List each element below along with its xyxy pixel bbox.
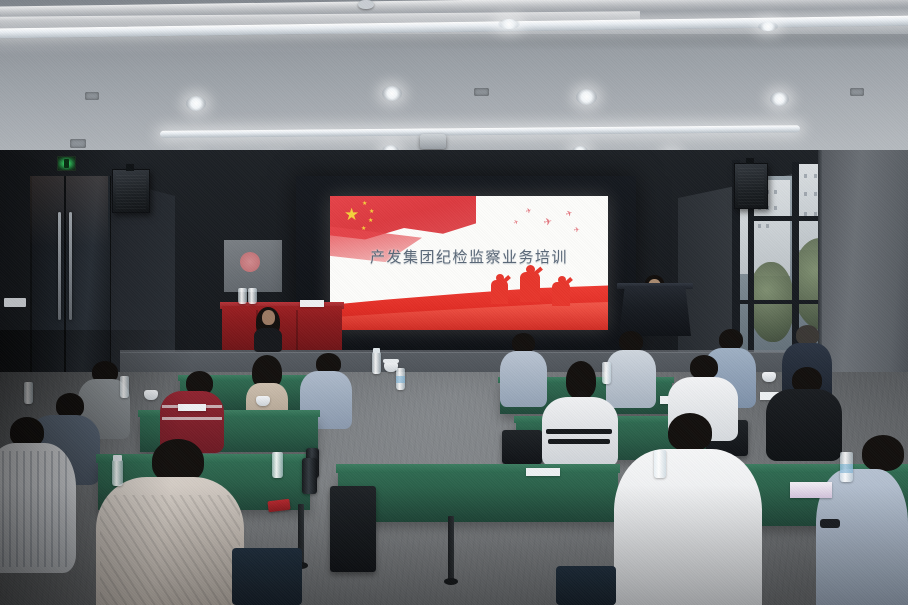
photo-grain: [0, 0, 908, 605]
meeting-room-photo: ★ ★ ★ ★ ★ ✈ ✈ ✈ ✈ ✈ 产发集团纪检监察业务培训: [0, 0, 908, 605]
